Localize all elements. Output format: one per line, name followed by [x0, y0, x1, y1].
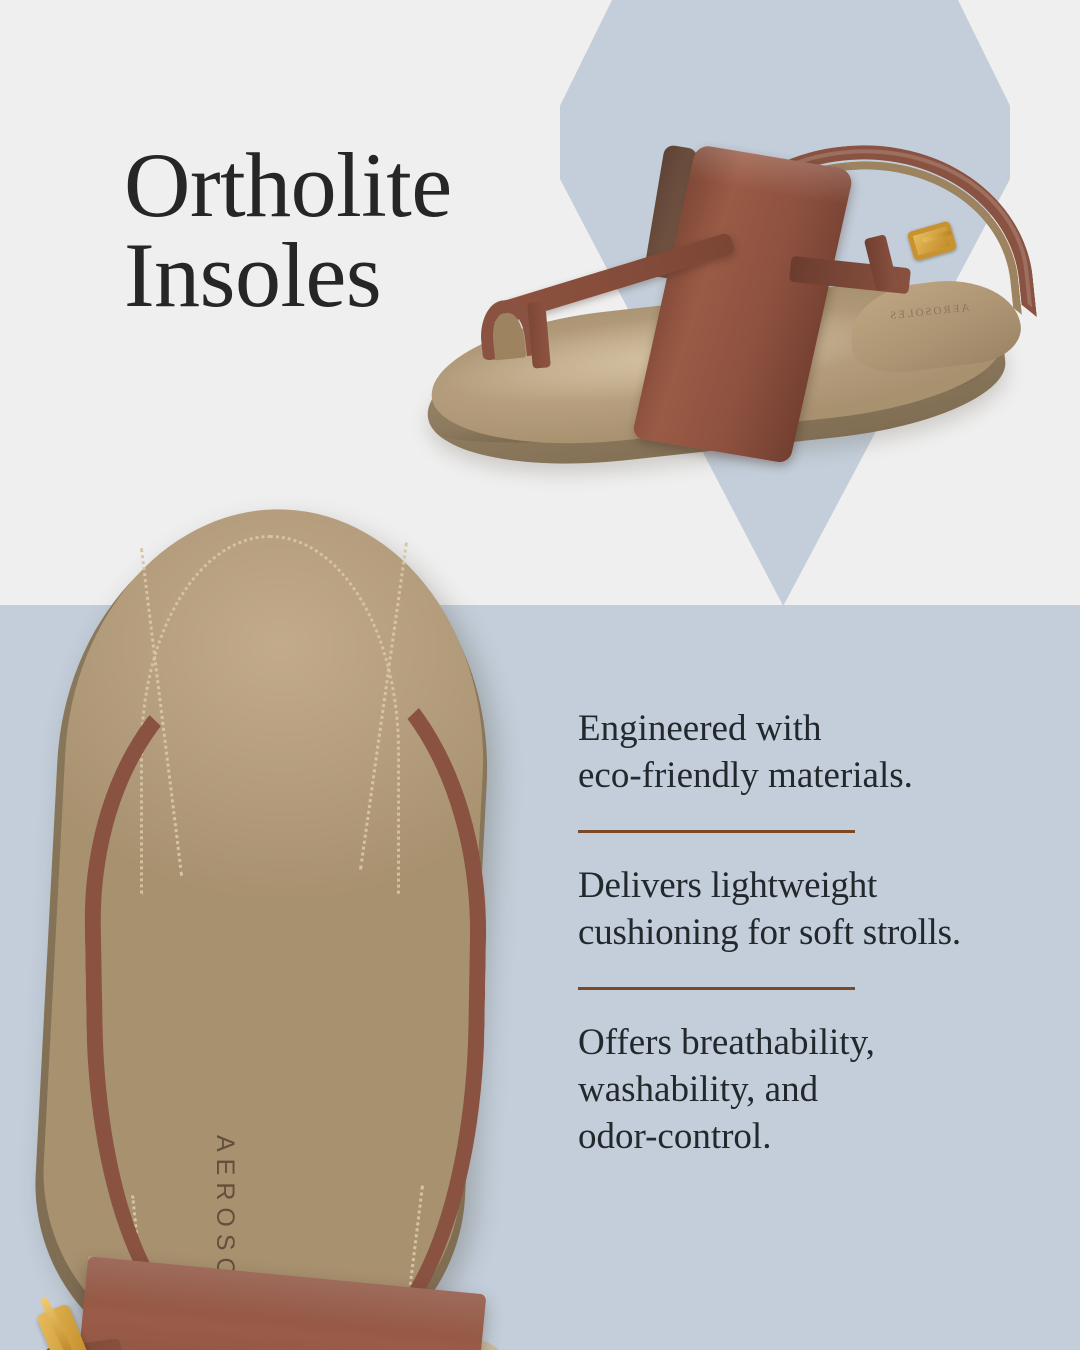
feature-divider: [578, 830, 855, 833]
feature-text: Engineered with eco-friendly materials.: [578, 706, 1048, 799]
feature-item-breathability: Offers breathability, washability, and o…: [578, 1020, 1048, 1160]
sandal-top-view-image: AEROSOLES: [0, 495, 550, 1350]
feature-divider: [578, 987, 855, 990]
product-feature-card: AEROSOLES Ortholite Insoles AEROSOLES: [0, 0, 1080, 1350]
feature-text: Delivers lightweight cushioning for soft…: [578, 863, 1048, 956]
feature-list: Engineered with eco-friendly materials. …: [578, 706, 1048, 1160]
page-title: Ortholite Insoles: [124, 140, 452, 320]
ankle-strap-right: [134, 632, 492, 1350]
feature-item-eco-materials: Engineered with eco-friendly materials.: [578, 706, 1048, 799]
feature-item-lightweight-cushioning: Delivers lightweight cushioning for soft…: [578, 863, 1048, 956]
sandal-angled-view-image: AEROSOLES: [418, 150, 1018, 490]
feature-text: Offers breathability, washability, and o…: [578, 1020, 1048, 1160]
